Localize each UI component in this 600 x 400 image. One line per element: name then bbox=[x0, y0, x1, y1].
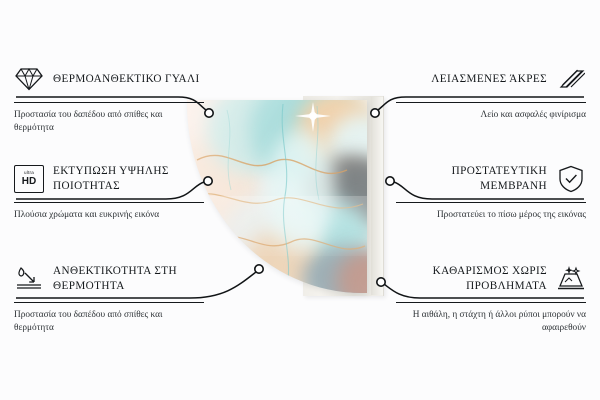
feature-title: ΑΝΘΕΚΤΙΚΟΤΗΤΑ ΣΤΗ ΘΕΡΜΟΤΗΤΑ bbox=[53, 264, 204, 294]
feature-header: ΛΕΙΑΣΜΕΝΕΣ ΆΚΡΕΣ bbox=[396, 62, 586, 96]
easy-clean-icon bbox=[556, 264, 586, 294]
divider bbox=[14, 102, 204, 103]
feature-header: ultra HD ΕΚΤΥΠΩΣΗ ΥΨΗΛΗΣ ΠΟΙΟΤΗΤΑΣ bbox=[14, 162, 204, 196]
polished-edges-icon bbox=[556, 64, 586, 94]
feature-description: Προστατεύει το πίσω μέρος της εικόνας bbox=[396, 209, 586, 222]
divider bbox=[396, 302, 586, 303]
divider bbox=[396, 202, 586, 203]
feature-header: ΠΡΟΣΤΑΤΕΥΤΙΚΗ ΜΕΜΒΡΑΝΗ bbox=[396, 162, 586, 196]
feature-title: ΠΡΟΣΤΑΤΕΥΤΙΚΗ ΜΕΜΒΡΑΝΗ bbox=[396, 164, 547, 194]
shield-check-icon bbox=[556, 164, 586, 194]
gold-veins bbox=[187, 100, 367, 293]
feature-easy-cleaning: ΚΑΘΑΡΙΣΜΟΣ ΧΩΡΙΣ ΠΡΟΒΛΗΜΑΤΑ Η αιθάλη, η … bbox=[396, 262, 586, 336]
ultra-hd-icon-hd-text: HD bbox=[22, 177, 36, 187]
divider bbox=[14, 202, 204, 203]
ultra-hd-icon: ultra HD bbox=[14, 164, 44, 194]
feature-description: Προστασία του δαπέδου από σπίθες και θερ… bbox=[14, 109, 204, 136]
feature-header: ΚΑΘΑΡΙΣΜΟΣ ΧΩΡΙΣ ΠΡΟΒΛΗΜΑΤΑ bbox=[396, 262, 586, 296]
feature-title: ΕΚΤΥΠΩΣΗ ΥΨΗΛΗΣ ΠΟΙΟΤΗΤΑΣ bbox=[53, 164, 204, 194]
feature-heat-resistant-glass: ΘΕΡΜΟΑΝΘΕΚΤΙΚΟ ΓΥΑΛΙ Προστασία του δαπέδ… bbox=[14, 62, 204, 136]
feature-description: Η αιθάλη, η στάχτη ή άλλοι ρύποι μπορούν… bbox=[396, 309, 586, 336]
feature-description: Πλούσια χρώματα και ευκρινής εικόνα bbox=[14, 209, 204, 222]
feature-polished-edges: ΛΕΙΑΣΜΕΝΕΣ ΆΚΡΕΣ Λείο και ασφαλές φινίρι… bbox=[396, 62, 586, 122]
glass-panel-artwork bbox=[187, 100, 367, 293]
feature-description: Λείο και ασφαλές φινίρισμα bbox=[396, 109, 586, 122]
back-sheet-fold bbox=[371, 97, 383, 295]
feature-title: ΘΕΡΜΟΑΝΘΕΚΤΙΚΟ ΓΥΑΛΙ bbox=[53, 72, 200, 87]
heat-resistance-icon bbox=[14, 264, 44, 294]
feature-heat-resistance: ΑΝΘΕΚΤΙΚΟΤΗΤΑ ΣΤΗ ΘΕΡΜΟΤΗΤΑ Προστασία το… bbox=[14, 262, 204, 336]
divider bbox=[396, 102, 586, 103]
product-image bbox=[175, 95, 425, 310]
feature-header: ΑΝΘΕΚΤΙΚΟΤΗΤΑ ΣΤΗ ΘΕΡΜΟΤΗΤΑ bbox=[14, 262, 204, 296]
feature-title: ΛΕΙΑΣΜΕΝΕΣ ΆΚΡΕΣ bbox=[431, 72, 547, 87]
feature-high-quality-print: ultra HD ΕΚΤΥΠΩΣΗ ΥΨΗΛΗΣ ΠΟΙΟΤΗΤΑΣ Πλούσ… bbox=[14, 162, 204, 222]
feature-title: ΚΑΘΑΡΙΣΜΟΣ ΧΩΡΙΣ ΠΡΟΒΛΗΜΑΤΑ bbox=[396, 264, 547, 294]
infographic-page: ΘΕΡΜΟΑΝΘΕΚΤΙΚΟ ΓΥΑΛΙ Προστασία του δαπέδ… bbox=[0, 0, 600, 400]
diamond-icon bbox=[14, 64, 44, 94]
feature-description: Προστασία του δαπέδου από σπίθες και θερ… bbox=[14, 309, 204, 336]
feature-protective-membrane: ΠΡΟΣΤΑΤΕΥΤΙΚΗ ΜΕΜΒΡΑΝΗ Προστατεύει το πί… bbox=[396, 162, 586, 222]
divider bbox=[14, 302, 204, 303]
feature-header: ΘΕΡΜΟΑΝΘΕΚΤΙΚΟ ΓΥΑΛΙ bbox=[14, 62, 204, 96]
